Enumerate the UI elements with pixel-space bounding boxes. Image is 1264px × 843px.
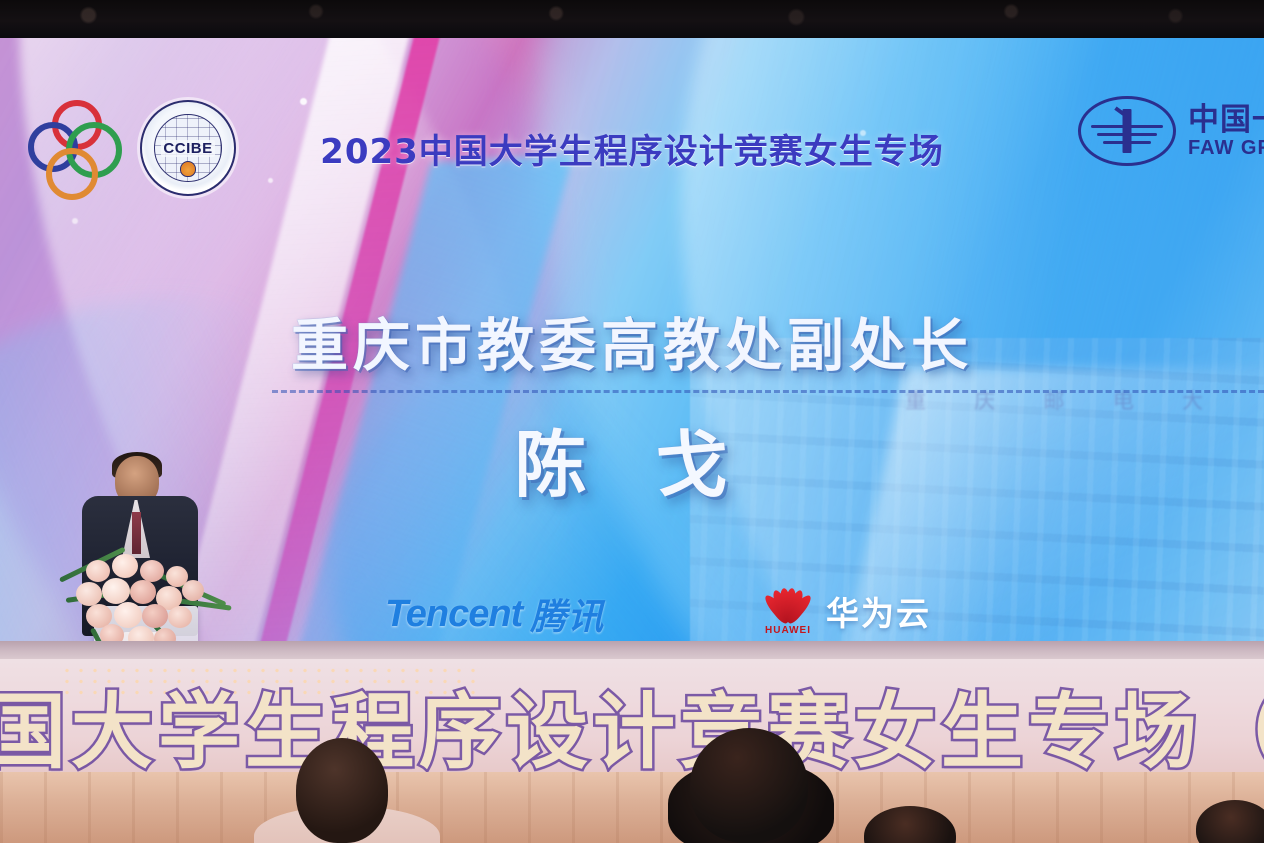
podium-and-speaker xyxy=(60,456,250,641)
led-backdrop-screen: 重 庆 邮 电 大 CCIBE xyxy=(0,38,1264,641)
huawei-logo: HUAWEI 华为云 xyxy=(760,586,931,636)
sparkle-dot xyxy=(300,98,307,105)
tencent-name-en: Tencent xyxy=(385,593,522,636)
audience-head xyxy=(296,738,388,843)
stage-banner: 国大学生程序设计竞赛女生专场（重 xyxy=(0,659,1264,775)
stage-front-wall xyxy=(0,772,1264,843)
dashed-divider xyxy=(272,390,1264,393)
sparkle-dot xyxy=(72,218,78,224)
huawei-name-en: HUAWEI xyxy=(765,625,811,636)
huawei-name-cn: 华为云 xyxy=(826,587,931,635)
banner-title-text: 国大学生程序设计竞赛女生专场（重 xyxy=(0,665,1264,775)
stage-photo: 重 庆 邮 电 大 CCIBE xyxy=(0,0,1264,843)
huawei-flower-icon: HUAWEI xyxy=(760,586,816,636)
tencent-name-cn: 腾讯 xyxy=(530,588,604,640)
speaker-role-title: 重庆市教委高教处副处长 xyxy=(0,300,1264,382)
diagonal-stripe-blue xyxy=(279,155,574,641)
tencent-logo: Tencent 腾讯 xyxy=(385,588,604,640)
event-title: 2023中国大学生程序设计竞赛女生专场 xyxy=(0,124,1264,173)
sparkle-dot xyxy=(268,178,273,183)
flower-arrangement xyxy=(50,514,240,641)
ceiling-dark-band xyxy=(0,0,1264,38)
audience-head xyxy=(690,728,808,843)
